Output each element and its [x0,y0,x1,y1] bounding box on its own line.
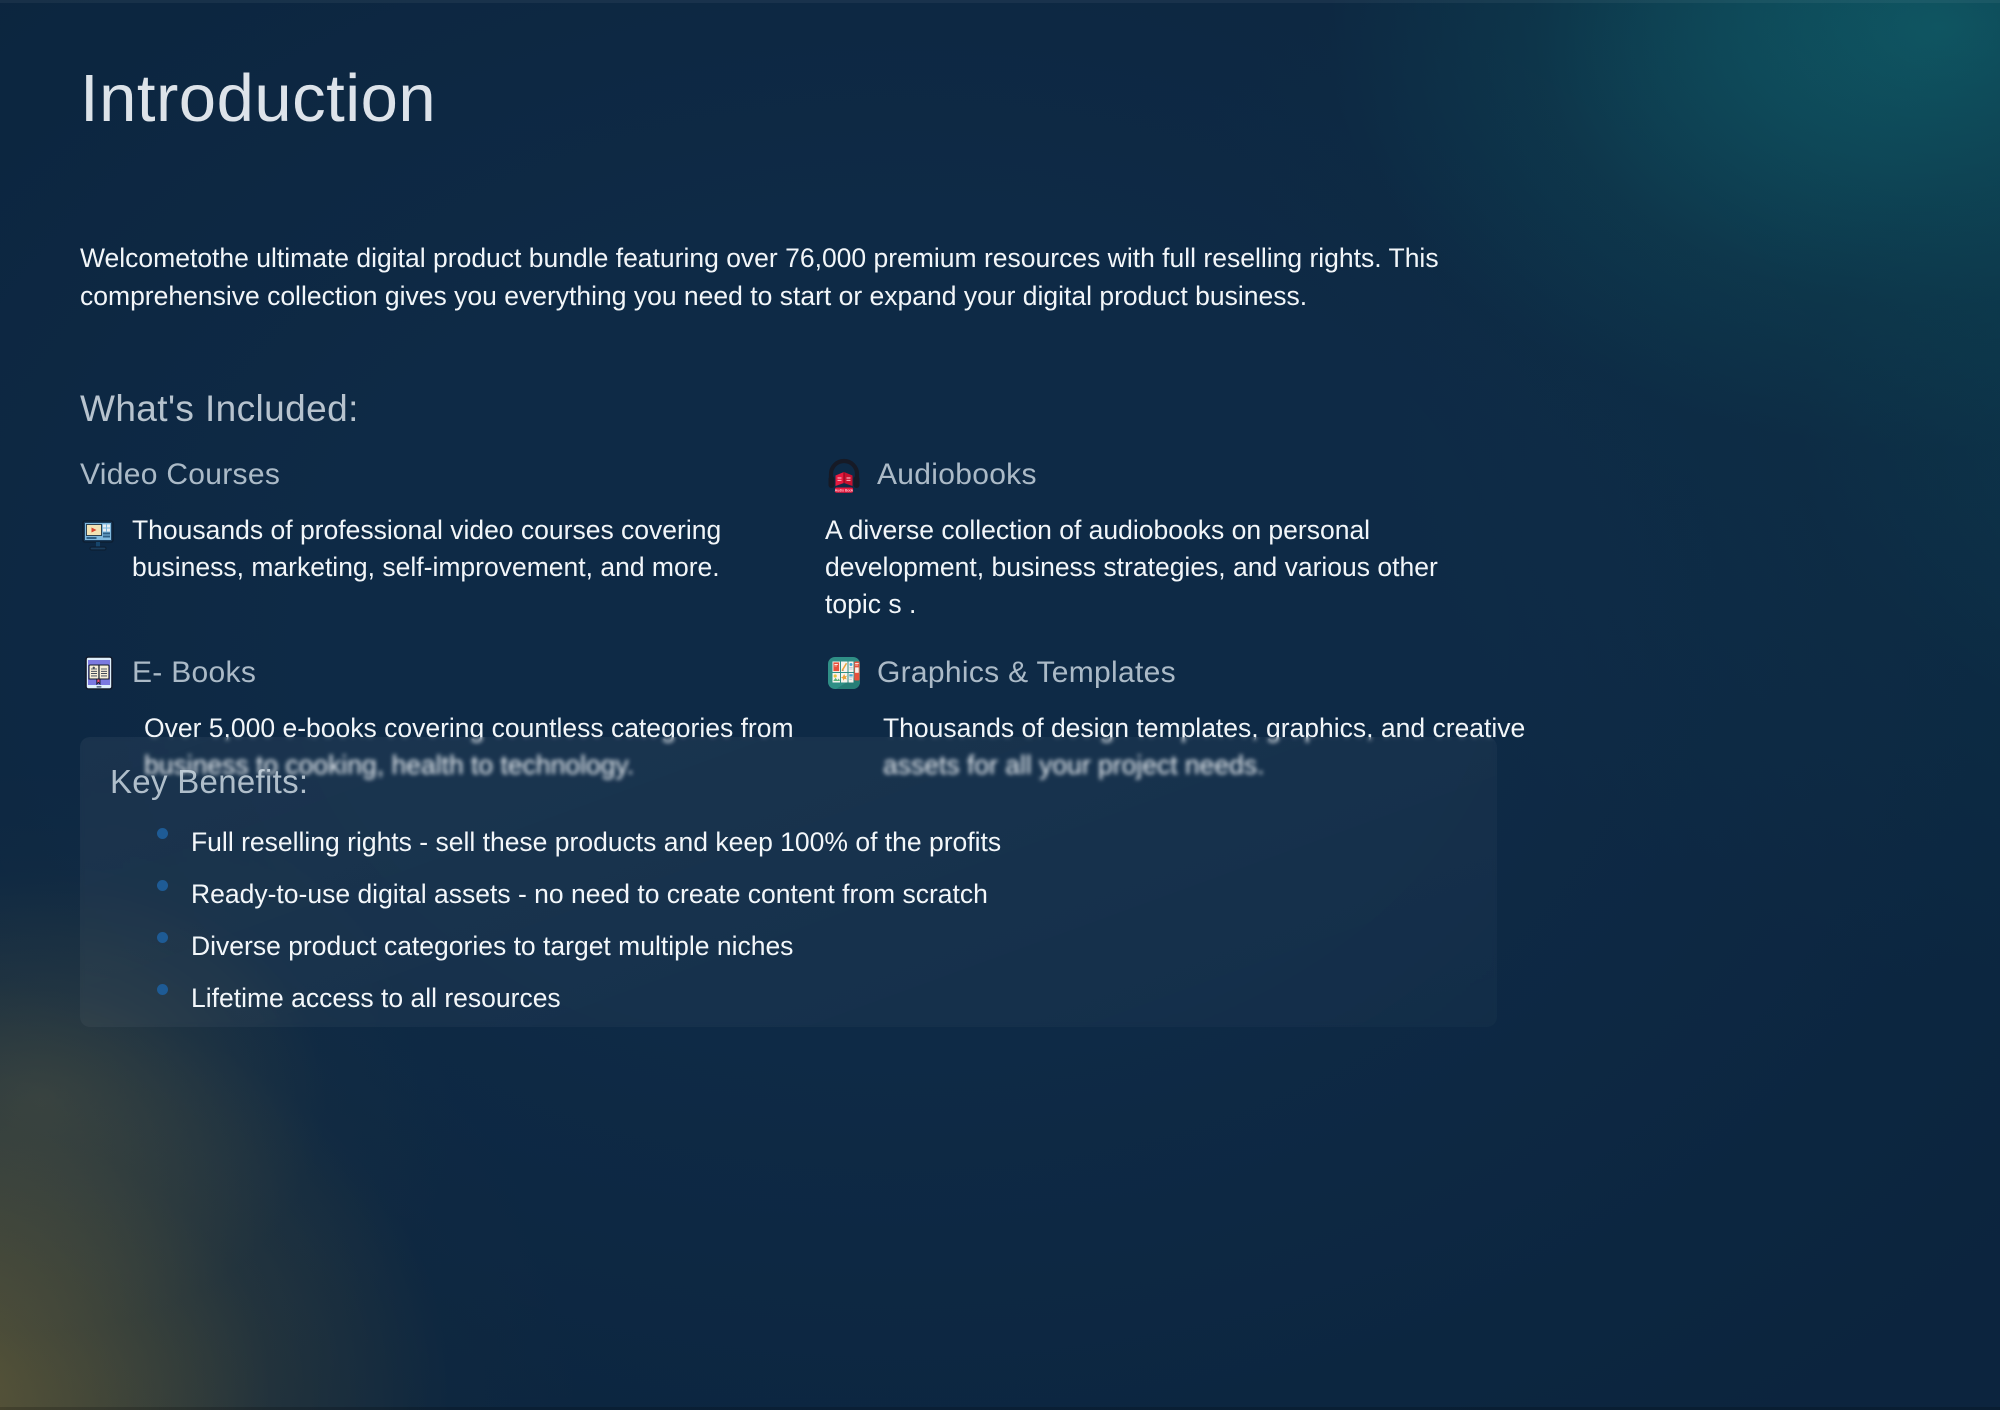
features-row-1: Video Courses [80,455,1920,563]
feature-header: Video Courses [80,455,870,495]
feature-header: Graphics & Templates [825,653,1615,693]
benefit-list-item: Diverse product categories to target mul… [135,929,1473,964]
key-benefits-list: Full reselling rights - sell these produ… [135,825,1473,1033]
feature-label: Video Courses [80,458,280,492]
feature-video-courses: Video Courses [80,455,870,563]
feature-header: E- Books [80,653,870,693]
feature-label: E- Books [132,656,256,690]
feature-icon-row: Thousands of professional video courses … [80,517,870,563]
graphics-templates-icon [825,654,863,692]
bullet-dot-icon [157,880,168,891]
feature-body-row: A diverse collection of audiobooks on pe… [825,517,1615,563]
slide-content: Introduction Welcometothe ultimate digit… [0,0,2000,1410]
page-title: Introduction [80,64,436,134]
audiobook-headphones-icon: Audio Book [825,456,863,494]
features-grid: Video Courses [80,455,1920,761]
bullet-dot-icon [157,828,168,839]
benefit-text: Lifetime access to all resources [191,983,561,1013]
benefit-list-item: Full reselling rights - sell these produ… [135,825,1473,860]
feature-label: Graphics & Templates [877,656,1176,690]
feature-body: A diverse collection of audiobooks on pe… [825,512,1470,623]
key-benefits-title: Key Benefits: [110,763,308,801]
benefit-text: Full reselling rights - sell these produ… [191,827,1001,857]
ebook-tablet-icon [80,654,118,692]
feature-audiobooks: Audio Book Audiobooks A diverse collecti… [825,455,1615,563]
feature-header: Audio Book Audiobooks [825,455,1615,495]
intro-paragraph: Welcometothe ultimate digital product bu… [80,240,1450,315]
feature-label: Audiobooks [877,458,1037,492]
feature-body: Thousands of professional video courses … [132,512,832,586]
bullet-dot-icon [157,984,168,995]
key-benefits-panel: Key Benefits: Full reselling rights - se… [80,737,1497,1027]
bullet-dot-icon [157,932,168,943]
video-monitor-icon [80,517,118,555]
section-heading-whats-included: What's Included: [80,388,359,430]
benefit-text: Ready-to-use digital assets - no need to… [191,879,988,909]
benefit-text: Diverse product categories to target mul… [191,931,793,961]
svg-text:Audio Book: Audio Book [835,488,854,492]
benefit-list-item: Ready-to-use digital assets - no need to… [135,877,1473,912]
benefit-list-item: Lifetime access to all resources [135,981,1473,1016]
